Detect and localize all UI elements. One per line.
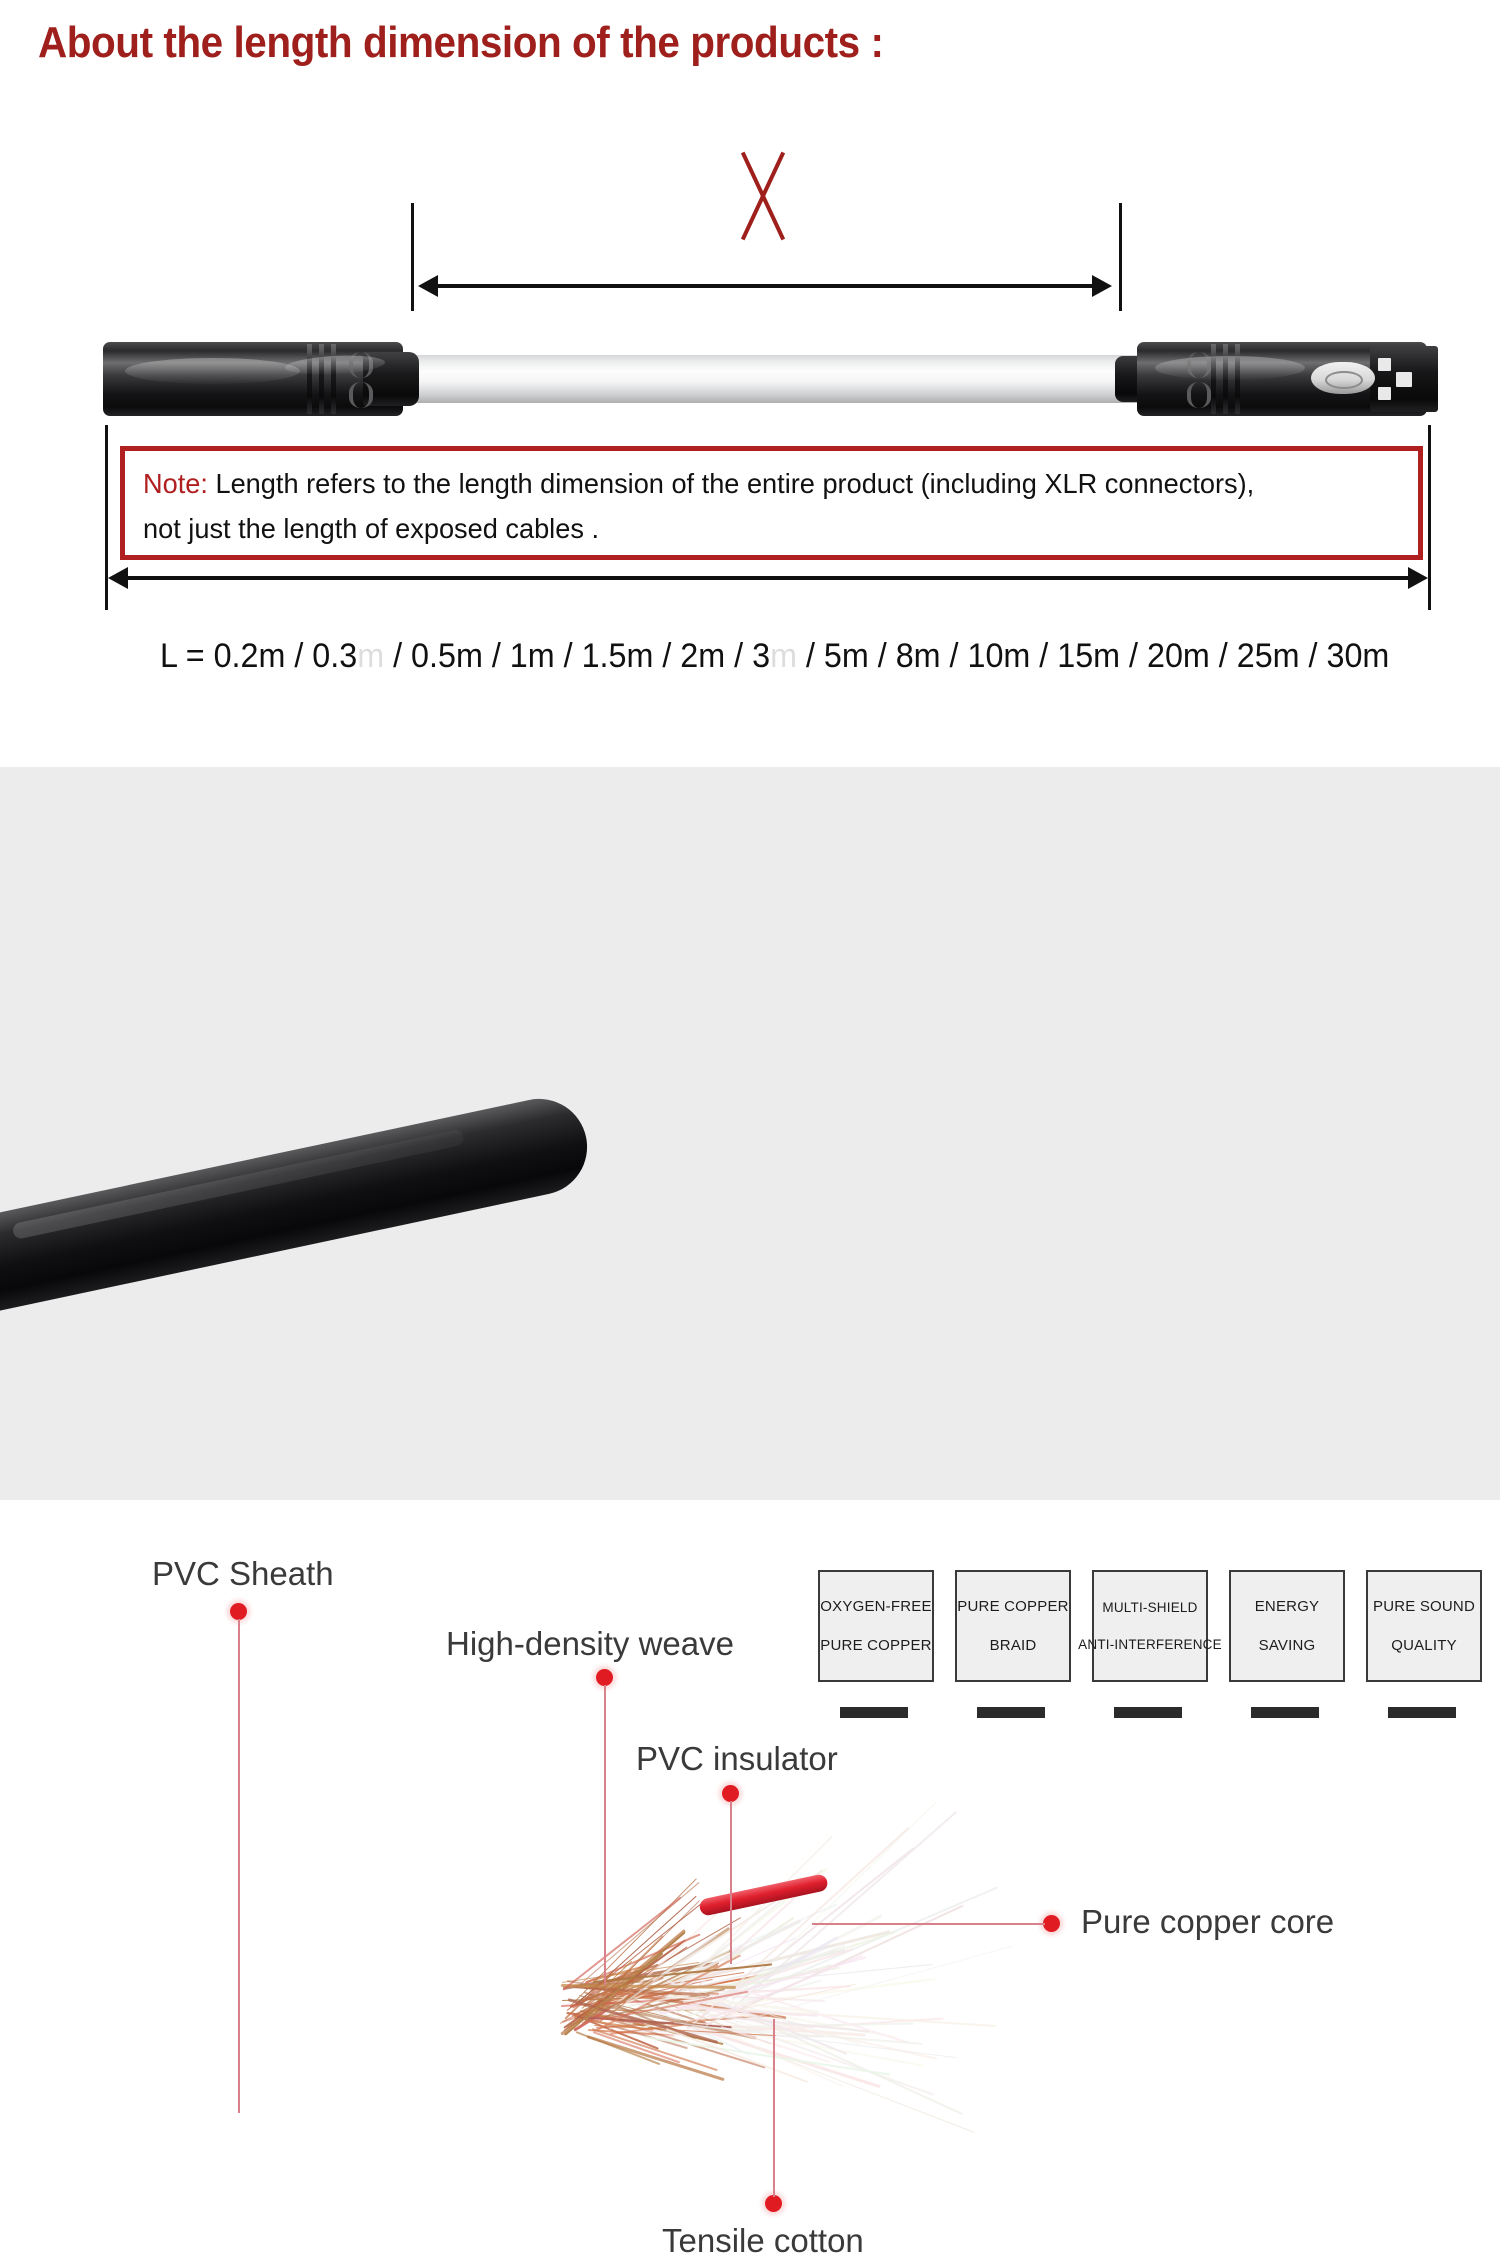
- male-grip-notch-bottom: [349, 382, 373, 408]
- badge-underline-1: [840, 1707, 908, 1718]
- callout-leader-pure-copper-core: [812, 1923, 1045, 1925]
- note-text: Note: Length refers to the length dimens…: [143, 461, 1363, 551]
- note-label: Note:: [143, 468, 208, 499]
- cable-fiber: [705, 2028, 975, 2133]
- badge-underline-5: [1388, 1707, 1456, 1718]
- callout-dot-pvc-sheath: [230, 1603, 247, 1620]
- pvc-sheath-graphic: [0, 1090, 596, 1317]
- badge-2-line-1: PURE COPPER: [957, 1598, 1068, 1615]
- extension-line-right-cable: [1119, 203, 1122, 311]
- female-collar: [1370, 346, 1438, 412]
- badge-pure-sound-quality[interactable]: PURE SOUND QUALITY: [1366, 1570, 1482, 1682]
- callout-dot-high-density-weave: [596, 1669, 613, 1686]
- badge-4-line-2: SAVING: [1259, 1637, 1316, 1654]
- badge-4-line-1: ENERGY: [1255, 1598, 1320, 1615]
- female-highlight-1: [1155, 356, 1305, 380]
- callout-label-pvc-sheath: PVC Sheath: [152, 1555, 334, 1593]
- callout-label-tensile-cotton: Tensile cotton: [662, 2222, 864, 2260]
- male-ring-2: [319, 344, 324, 414]
- badge-1-line-1: OXYGEN-FREE: [820, 1598, 931, 1615]
- badge-2-line-2: BRAID: [990, 1637, 1037, 1654]
- male-ring-3: [331, 344, 336, 414]
- red-conductor-graphic: [698, 1873, 829, 1917]
- callout-label-high-density-weave: High-density weave: [446, 1625, 734, 1663]
- badge-underline-4: [1251, 1707, 1319, 1718]
- note-line-2: not just the length of exposed cables .: [143, 513, 599, 544]
- female-pin-1: [1378, 358, 1391, 371]
- badge-energy-saving[interactable]: ENERGY SAVING: [1229, 1570, 1345, 1682]
- cable-structure-panel: OXYGEN-FREE PURE COPPER PURE COPPER BRAI…: [0, 767, 1500, 1500]
- badge-underline-2: [977, 1707, 1045, 1718]
- badge-underline-3: [1114, 1707, 1182, 1718]
- incorrect-length-arrow: [418, 275, 1112, 297]
- cable-cutaway-illustration: [0, 767, 900, 1500]
- length-faded-unit-2: m: [770, 637, 797, 675]
- female-pin-2: [1378, 387, 1391, 400]
- badge-multi-shield-anti-interference[interactable]: MULTI-SHIELD ANTI-INTERFERENCE: [1092, 1570, 1208, 1682]
- extension-line-left-cable: [411, 203, 414, 311]
- feature-badges: OXYGEN-FREE PURE COPPER PURE COPPER BRAI…: [818, 1570, 1488, 1740]
- extension-line-right-product: [1428, 425, 1431, 610]
- callout-leader-pvc-insulator: [730, 1801, 732, 1964]
- badge-3-line-2: ANTI-INTERFERENCE: [1078, 1637, 1222, 1652]
- total-arrow-head-right-icon: [1408, 567, 1428, 589]
- callout-label-pvc-insulator: PVC insulator: [636, 1740, 838, 1778]
- badge-5-line-2: QUALITY: [1391, 1637, 1457, 1654]
- arrow-head-right-icon: [1092, 275, 1112, 297]
- female-pin-3: [1396, 372, 1412, 387]
- length-faded-unit-1: m: [357, 637, 384, 675]
- red-cross-mark: [723, 152, 803, 240]
- length-mid: / 0.5m / 1m / 1.5m / 2m / 3: [393, 637, 770, 675]
- male-ring-1: [307, 344, 312, 414]
- total-arrow-shaft: [119, 576, 1417, 580]
- xlr-cable-illustration: [95, 330, 1445, 430]
- callout-leader-tensile-cotton: [773, 2019, 775, 2197]
- length-options-text: L = 0.2m / 0.3m / 0.5m / 1m / 1.5m / 2m …: [160, 637, 1389, 676]
- page-title: About the length dimension of the produc…: [38, 18, 1050, 68]
- note-box: Note: Length refers to the length dimens…: [120, 446, 1423, 560]
- xlr-male-connector: [95, 330, 425, 430]
- male-highlight-1: [125, 358, 300, 384]
- arrow-shaft: [429, 284, 1101, 288]
- xlr-female-connector: [1115, 330, 1445, 430]
- badge-1-line-2: PURE COPPER: [820, 1637, 931, 1654]
- callout-leader-pvc-sheath: [238, 1619, 240, 2113]
- callout-leader-high-density-weave: [604, 1685, 606, 1985]
- callout-dot-tensile-cotton: [765, 2195, 782, 2212]
- badge-5-line-1: PURE SOUND: [1373, 1598, 1475, 1615]
- female-grip-notch-bottom: [1187, 382, 1211, 408]
- badge-pure-copper-braid[interactable]: PURE COPPER BRAID: [955, 1570, 1071, 1682]
- total-length-arrow: [108, 567, 1428, 589]
- note-line-1: Length refers to the length dimension of…: [208, 468, 1254, 499]
- female-latch-button: [1311, 362, 1375, 394]
- length-dimension-panel: About the length dimension of the produc…: [0, 0, 1500, 767]
- badge-3-line-1: MULTI-SHIELD: [1102, 1600, 1197, 1615]
- length-prefix: L = 0.2m / 0.3: [160, 637, 357, 675]
- callout-label-pure-copper-core: Pure copper core: [1081, 1903, 1334, 1941]
- length-suffix: / 5m / 8m / 10m / 15m / 20m / 25m / 30m: [806, 637, 1389, 675]
- callout-dot-pvc-insulator: [722, 1785, 739, 1802]
- badge-oxygen-free-pure-copper[interactable]: OXYGEN-FREE PURE COPPER: [818, 1570, 934, 1682]
- callout-dot-pure-copper-core: [1043, 1915, 1060, 1932]
